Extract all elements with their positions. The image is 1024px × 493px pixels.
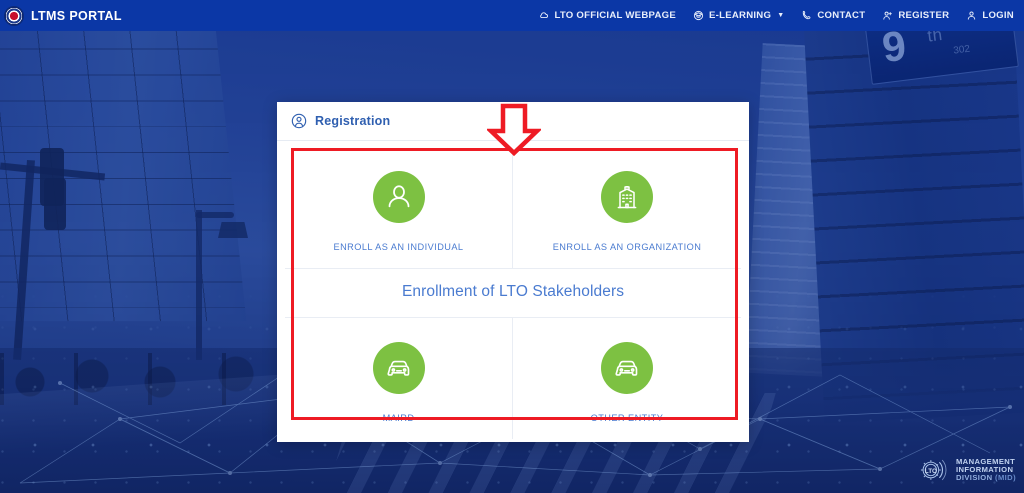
page-root: 9 th 302	[0, 0, 1024, 493]
top-navbar: LTMS PORTAL LTO OFFICIAL WEBPAGE E-LEARN…	[0, 0, 1024, 31]
nav-item-register[interactable]: REGISTER	[882, 10, 949, 21]
other-entity-tile[interactable]: OTHER ENTITY	[513, 318, 741, 439]
brand[interactable]: LTMS PORTAL	[4, 6, 122, 26]
chevron-down-icon: ▼	[777, 12, 784, 19]
person-icon	[384, 182, 414, 212]
tile-label: OTHER ENTITY	[591, 413, 664, 423]
car-front-icon	[612, 353, 642, 383]
tile-label: ENROLL AS AN ORGANIZATION	[553, 242, 702, 252]
maird-tile[interactable]: MAIRD	[285, 318, 513, 439]
user-plus-icon	[882, 10, 893, 21]
nav-item-lto-official-webpage[interactable]: LTO OFFICIAL WEBPAGE	[538, 10, 676, 21]
cloud-icon	[538, 10, 549, 21]
user-circle-icon	[291, 113, 307, 129]
enroll-as-individual-tile[interactable]: ENROLL AS AN INDIVIDUAL	[285, 147, 513, 269]
nav-label: LOGIN	[982, 10, 1014, 21]
mid-line-3-suffix: (MID)	[995, 473, 1016, 482]
nav-label: CONTACT	[817, 10, 865, 21]
building-icon	[613, 183, 641, 211]
graduation-cap-icon	[693, 10, 704, 21]
registration-options-grid: ENROLL AS AN INDIVIDUAL	[285, 147, 741, 439]
nav-item-login[interactable]: LOGIN	[966, 10, 1014, 21]
registration-options-wrap: ENROLL AS AN INDIVIDUAL	[277, 141, 749, 439]
brand-label: LTMS PORTAL	[31, 9, 122, 23]
svg-text:LTO: LTO	[925, 468, 937, 475]
nav-item-e-learning[interactable]: E-LEARNING ▼	[693, 10, 784, 21]
user-icon	[966, 10, 977, 21]
page-title: Registration	[315, 114, 390, 128]
stakeholders-section-label: Enrollment of LTO Stakeholders	[285, 269, 741, 318]
enroll-as-organization-tile[interactable]: ENROLL AS AN ORGANIZATION	[513, 147, 741, 269]
mid-watermark-text: MANAGEMENT INFORMATION DIVISION (MID)	[956, 458, 1016, 483]
nav-item-contact[interactable]: CONTACT	[801, 10, 865, 21]
nav-label: E-LEARNING	[709, 10, 771, 21]
registration-card-header: Registration	[277, 102, 749, 141]
icon-badge	[601, 342, 653, 394]
nav-label: REGISTER	[898, 10, 949, 21]
icon-badge	[373, 171, 425, 223]
nav-label: LTO OFFICIAL WEBPAGE	[554, 10, 676, 21]
mid-watermark: LTO MANAGEMENT INFORMATION DIVISION (MID…	[916, 453, 1016, 487]
car-front-icon	[384, 353, 414, 383]
phone-icon	[801, 10, 812, 21]
tile-label: MAIRD	[383, 413, 415, 423]
icon-badge	[601, 171, 653, 223]
icon-badge	[373, 342, 425, 394]
navbar-links: LTO OFFICIAL WEBPAGE E-LEARNING ▼ CONTAC…	[538, 10, 1016, 21]
tile-label: ENROLL AS AN INDIVIDUAL	[334, 242, 464, 252]
lto-mid-gear-logo: LTO	[916, 453, 950, 487]
lto-seal-logo	[4, 6, 24, 26]
mid-line-3-text: DIVISION	[956, 473, 993, 482]
registration-card: Registration ENROLL AS AN INDIVIDUAL	[277, 102, 749, 442]
mid-line-3: DIVISION (MID)	[956, 474, 1016, 482]
